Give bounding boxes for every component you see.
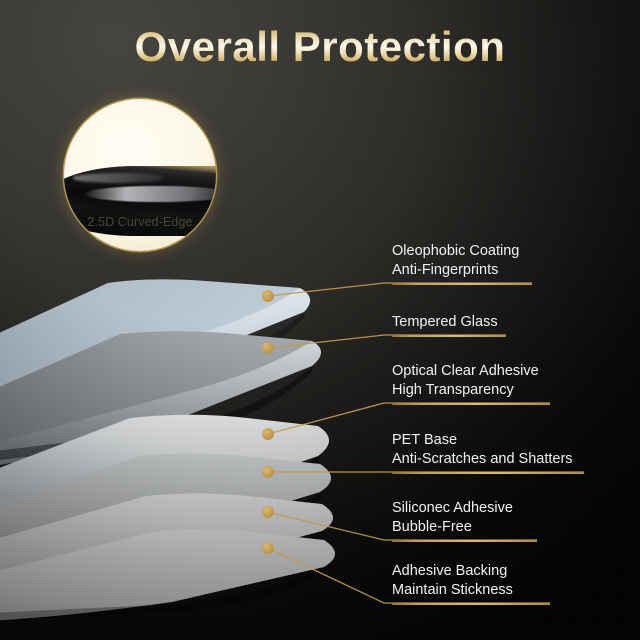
callout-dot-optical-clear-adhesive[interactable] xyxy=(262,428,274,440)
closeup-caption: 2.5D Curved-Edge xyxy=(64,215,216,229)
callout-label-adhesive-backing: Adhesive BackingMaintain Stickness xyxy=(392,562,550,605)
callout-label-siliconec-adhesive: Siliconec AdhesiveBubble-Free xyxy=(392,499,537,542)
callout-underline-adhesive-backing xyxy=(392,603,550,605)
callout-subtitle-pet-base: Anti-Scratches and Shatters xyxy=(392,450,584,469)
callout-underline-siliconec-adhesive xyxy=(392,540,537,542)
layer-stack xyxy=(0,0,640,640)
callout-underline-optical-clear-adhesive xyxy=(392,403,550,405)
callout-underline-oleophobic-coating xyxy=(392,283,532,285)
callout-title-tempered-glass: Tempered Glass xyxy=(392,313,506,332)
callout-subtitle-siliconec-adhesive: Bubble-Free xyxy=(392,518,537,537)
callout-title-adhesive-backing: Adhesive Backing xyxy=(392,562,550,581)
page-title: Overall Protection xyxy=(0,24,640,70)
callout-underline-tempered-glass xyxy=(392,335,506,337)
callout-subtitle-adhesive-backing: Maintain Stickness xyxy=(392,581,550,600)
callout-dot-oleophobic-coating[interactable] xyxy=(262,290,274,302)
callout-title-oleophobic-coating: Oleophobic Coating xyxy=(392,242,532,261)
callout-label-tempered-glass: Tempered Glass xyxy=(392,313,506,337)
protector-layers-infographic: Overall Protection 2.5D Curved-Edge Oleo… xyxy=(0,0,640,640)
callout-dot-tempered-glass[interactable] xyxy=(262,342,274,354)
callout-label-oleophobic-coating: Oleophobic CoatingAnti-Fingerprints xyxy=(392,242,532,285)
callout-dot-pet-base[interactable] xyxy=(262,466,274,478)
callout-subtitle-oleophobic-coating: Anti-Fingerprints xyxy=(392,261,532,280)
callout-label-optical-clear-adhesive: Optical Clear AdhesiveHigh Transparency xyxy=(392,362,550,405)
callout-subtitle-optical-clear-adhesive: High Transparency xyxy=(392,381,550,400)
curved-edge-closeup: 2.5D Curved-Edge xyxy=(64,99,216,251)
callout-title-optical-clear-adhesive: Optical Clear Adhesive xyxy=(392,362,550,381)
callout-title-pet-base: PET Base xyxy=(392,431,584,450)
callout-dot-siliconec-adhesive[interactable] xyxy=(262,506,274,518)
callout-label-pet-base: PET BaseAnti-Scratches and Shatters xyxy=(392,431,584,474)
callout-title-siliconec-adhesive: Siliconec Adhesive xyxy=(392,499,537,518)
callout-dot-adhesive-backing[interactable] xyxy=(262,542,274,554)
glass-highlight-secondary xyxy=(73,173,164,182)
callout-underline-pet-base xyxy=(392,472,584,474)
